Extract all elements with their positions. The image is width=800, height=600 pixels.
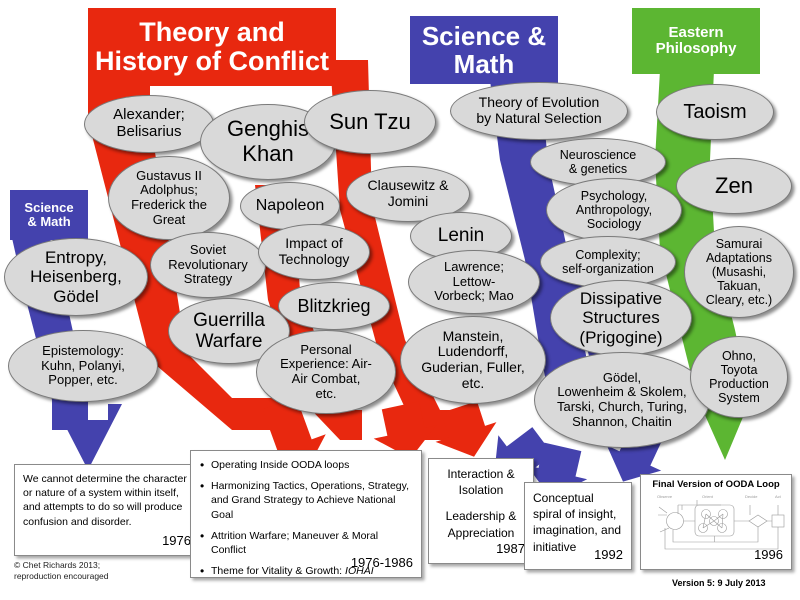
diagram-canvas: Theory and History of Conflict Science &… (0, 0, 800, 600)
copyright-credit: © Chet Richards 2013; reproduction encou… (14, 560, 109, 583)
oval-zen[interactable]: Zen (676, 158, 792, 214)
oval-label: Personal Experience: Air- Air Combat, et… (280, 343, 372, 401)
box-organic-line2: Leadership & Appreciation (437, 508, 525, 540)
oval-label: Manstein, Ludendorff, Guderian, Fuller, … (421, 329, 525, 392)
oval-entropy-heisenberg-godel[interactable]: Entropy, Heisenberg, Gödel (4, 238, 148, 316)
oval-label: Samurai Adaptations (Musashi, Takuan, Cl… (706, 237, 772, 307)
oval-godel-lowenheim-skolem-tarski[interactable]: Gödel, Lowenheim & Skolem, Tarski, Churc… (534, 352, 710, 448)
banner-science-top-label: Science & Math (422, 22, 546, 78)
oval-label: Guerrilla Warfare (193, 310, 265, 353)
oval-label: Gödel, Lowenheim & Skolem, Tarski, Churc… (557, 371, 687, 429)
oval-label: Complexity; self-organization (562, 248, 654, 276)
oval-theory-of-evolution[interactable]: Theory of Evolution by Natural Selection (450, 82, 628, 140)
oval-psychology-anthropology-sociology[interactable]: Psychology, Anthropology, Sociology (546, 178, 682, 242)
bullet4-text: Theme for Vitality & Growth: (211, 565, 345, 577)
oval-label: Clausewitz & Jomini (368, 178, 449, 209)
box-conceptual-text: Conceptual spiral of insight, imaginatio… (533, 490, 623, 555)
oval-label: Dissipative Structures (Prigogine) (579, 289, 662, 346)
oval-label: Soviet Revolutionary Strategy (168, 243, 248, 287)
oval-label: Sun Tzu (329, 110, 411, 135)
oval-personal-experience-air-air-combat[interactable]: Personal Experience: Air- Air Combat, et… (256, 330, 396, 414)
list-item: Harmonizing Tactics, Operations, Strateg… (199, 479, 413, 522)
box-patterns-of-conflict[interactable]: Operating Inside OODA loops Harmonizing … (190, 450, 422, 578)
oval-sun-tzu[interactable]: Sun Tzu (304, 90, 436, 154)
oval-lawrence-lettow-vorbeck-mao[interactable]: Lawrence; Lettow- Vorbeck; Mao (408, 250, 540, 314)
oval-label: Napoleon (256, 197, 325, 215)
oval-label: Theory of Evolution by Natural Selection (476, 95, 601, 126)
oval-label: Zen (715, 174, 753, 199)
oval-label: Lawrence; Lettow- Vorbeck; Mao (434, 260, 514, 304)
oval-dissipative-structures-prigogine[interactable]: Dissipative Structures (Prigogine) (550, 280, 692, 356)
box-ooda-year: 1996 (754, 546, 783, 564)
oval-blitzkrieg[interactable]: Blitzkrieg (278, 282, 390, 330)
oval-napoleon[interactable]: Napoleon (240, 182, 340, 230)
box-organic-year: 1987 (496, 540, 525, 558)
box-destruction-and-creation[interactable]: We cannot determine the character or nat… (14, 464, 200, 556)
banner-eastern-philosophy[interactable]: Eastern Philosophy (632, 8, 760, 74)
banner-eastern-label: Eastern Philosophy (656, 25, 737, 57)
oval-label: Psychology, Anthropology, Sociology (576, 189, 652, 231)
oval-label: Neuroscience & genetics (560, 148, 636, 176)
banner-theory-and-history-of-conflict[interactable]: Theory and History of Conflict (88, 8, 336, 86)
oval-label: Gustavus II Adolphus; Frederick the Grea… (131, 169, 207, 227)
box-conceptual-spiral[interactable]: Conceptual spiral of insight, imaginatio… (524, 482, 632, 570)
banner-theory-label: Theory and History of Conflict (95, 18, 329, 76)
oval-label: Lenin (438, 225, 485, 246)
svg-text:Orient: Orient (702, 494, 714, 499)
banner-science-and-math-top[interactable]: Science & Math (410, 16, 558, 84)
svg-text:Observe: Observe (657, 494, 673, 499)
version-label: Version 5: 9 July 2013 (672, 578, 766, 588)
oval-ohno-toyota-production-system[interactable]: Ohno, Toyota Production System (690, 336, 788, 418)
oval-manstein-ludendorff-guderian-fuller[interactable]: Manstein, Ludendorff, Guderian, Fuller, … (400, 316, 546, 404)
list-item: Operating Inside OODA loops (199, 458, 413, 472)
box-patterns-year: 1976-1986 (351, 554, 413, 572)
oval-label: Taoism (683, 101, 746, 123)
box-destruction-text: We cannot determine the character or nat… (23, 472, 191, 529)
box-final-ooda-loop[interactable]: Final Version of OODA Loop (640, 474, 792, 570)
banner-science-left-label: Science & Math (24, 201, 73, 229)
oval-gustavus-frederick[interactable]: Gustavus II Adolphus; Frederick the Grea… (108, 156, 230, 240)
oval-label: Impact of Technology (279, 236, 350, 267)
box-organic-line1: Interaction & Isolation (437, 466, 525, 498)
svg-text:Decide: Decide (745, 494, 758, 499)
oval-alexander-belisarius[interactable]: Alexander; Belisarius (84, 95, 214, 153)
oval-label: Epistemology: Kuhn, Polanyi, Popper, etc… (41, 344, 125, 388)
oval-samurai-adaptations[interactable]: Samurai Adaptations (Musashi, Takuan, Cl… (684, 226, 794, 318)
oval-label: Entropy, Heisenberg, Gödel (30, 248, 122, 305)
list-item: Attrition Warfare; Maneuver & Moral Conf… (199, 529, 413, 557)
oval-epistemology-kuhn-polanyi-popper[interactable]: Epistemology: Kuhn, Polanyi, Popper, etc… (8, 330, 158, 402)
box-destruction-year: 1976 (162, 532, 191, 550)
ooda-title: Final Version of OODA Loop (641, 479, 791, 492)
box-organic-design[interactable]: Interaction & Isolation Leadership & App… (428, 458, 534, 564)
box-conceptual-year: 1992 (594, 546, 623, 564)
oval-impact-of-technology[interactable]: Impact of Technology (258, 224, 370, 280)
oval-taoism[interactable]: Taoism (656, 84, 774, 140)
oval-label: Blitzkrieg (297, 296, 370, 316)
banner-science-and-math-left[interactable]: Science & Math (10, 190, 88, 240)
oval-label: Genghis Khan (227, 117, 309, 166)
oval-label: Ohno, Toyota Production System (709, 349, 769, 405)
oval-label: Alexander; Belisarius (113, 107, 185, 141)
oval-soviet-revolutionary-strategy[interactable]: Soviet Revolutionary Strategy (150, 232, 266, 298)
svg-text:Act: Act (775, 494, 782, 499)
